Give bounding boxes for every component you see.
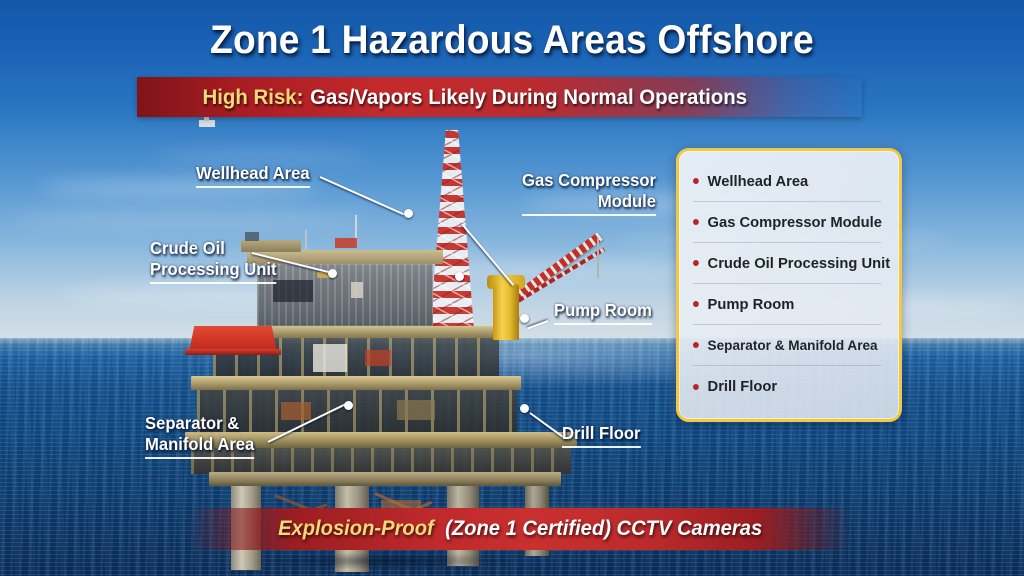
page-title: Zone 1 Hazardous Areas Offshore [36,18,988,63]
callout-pump-line1: Pump Room [554,300,652,325]
module-opening [273,280,313,302]
callout-pump-room: Pump Room [554,300,652,325]
explosion-proof-banner: Explosion-Proof (Zone 1 Certified) CCTV … [188,508,852,550]
crane-pedestal [493,284,519,340]
callout-gas-line1: Gas Compressor [522,170,656,191]
leader-dot-wellhead [404,209,413,218]
waterline-shadow [205,550,565,572]
derrick-crown [199,120,215,127]
leader-dot-separator [344,401,353,410]
crane-hook-line [597,238,599,278]
callout-wellhead-line1: Wellhead Area [196,163,310,188]
legend-item-label: Pump Room [708,296,795,313]
leader-dot-drill [520,404,529,413]
legend-item-crude-oil-processing-unit[interactable]: Crude Oil Processing Unit [693,243,881,284]
callout-separator-line2: Manifold Area [145,434,254,459]
legend-item-label: Wellhead Area [708,173,809,190]
callout-gas-line2: Module [522,191,656,216]
upper-equipment [335,238,357,248]
leader-dot-pump [520,314,529,323]
hazardous-areas-legend-panel: Wellhead Area Gas Compressor Module Crud… [676,148,902,422]
leader-dot-gas [455,272,464,281]
callout-drill-floor: Drill Floor [562,423,641,448]
deck-equipment [365,350,391,366]
legend-list: Wellhead Area Gas Compressor Module Crud… [679,151,899,419]
deck-equipment [397,400,435,420]
callout-separator-line1: Separator & [145,413,254,434]
high-risk-banner: High Risk: Gas/Vapors Likely During Norm… [137,77,862,117]
explosion-proof-label: Explosion-Proof [278,517,434,540]
callout-crude-line1: Crude Oil [150,238,277,259]
bullet-dot-icon [693,384,699,390]
infographic-stage: Zone 1 Hazardous Areas Offshore High Ris… [0,0,1024,576]
substructure-deck [209,472,561,486]
bullet-dot-icon [693,301,699,307]
legend-item-wellhead-area[interactable]: Wellhead Area [693,161,881,202]
legend-item-drill-floor[interactable]: Drill Floor [693,366,881,407]
callout-separator-manifold-area: Separator & Manifold Area [145,413,254,459]
legend-item-label: Drill Floor [708,378,778,395]
legend-item-gas-compressor-module[interactable]: Gas Compressor Module [693,202,881,243]
bullet-dot-icon [693,178,699,184]
module-opening [351,282,363,298]
high-risk-text: Gas/Vapors Likely During Normal Operatio… [310,85,747,110]
bullet-dot-icon [693,219,699,225]
bullet-dot-icon [693,260,699,266]
leader-dot-crude [328,269,337,278]
red-canopy-edge [185,349,281,355]
high-risk-label: High Risk: [202,85,303,110]
callout-crude-line2: Processing Unit [150,259,277,284]
legend-item-pump-room[interactable]: Pump Room [693,284,881,325]
callout-crude-oil-processing-unit: Crude Oil Processing Unit [150,238,277,284]
legend-item-label: Gas Compressor Module [708,214,882,231]
callout-gas-compressor-module: Gas Compressor Module [522,170,656,216]
antenna-mast [305,230,307,252]
legend-item-label: Crude Oil Processing Unit [708,255,891,272]
legend-item-label: Separator & Manifold Area [708,337,878,353]
second-deck [191,376,521,390]
deck-equipment [313,344,347,372]
callout-wellhead-area: Wellhead Area [196,163,310,188]
bullet-dot-icon [693,342,699,348]
explosion-proof-text: (Zone 1 Certified) CCTV Cameras [445,517,762,540]
legend-item-separator-manifold-area[interactable]: Separator & Manifold Area [693,325,881,366]
callout-drill-line1: Drill Floor [562,423,641,448]
deck-equipment [281,402,311,420]
